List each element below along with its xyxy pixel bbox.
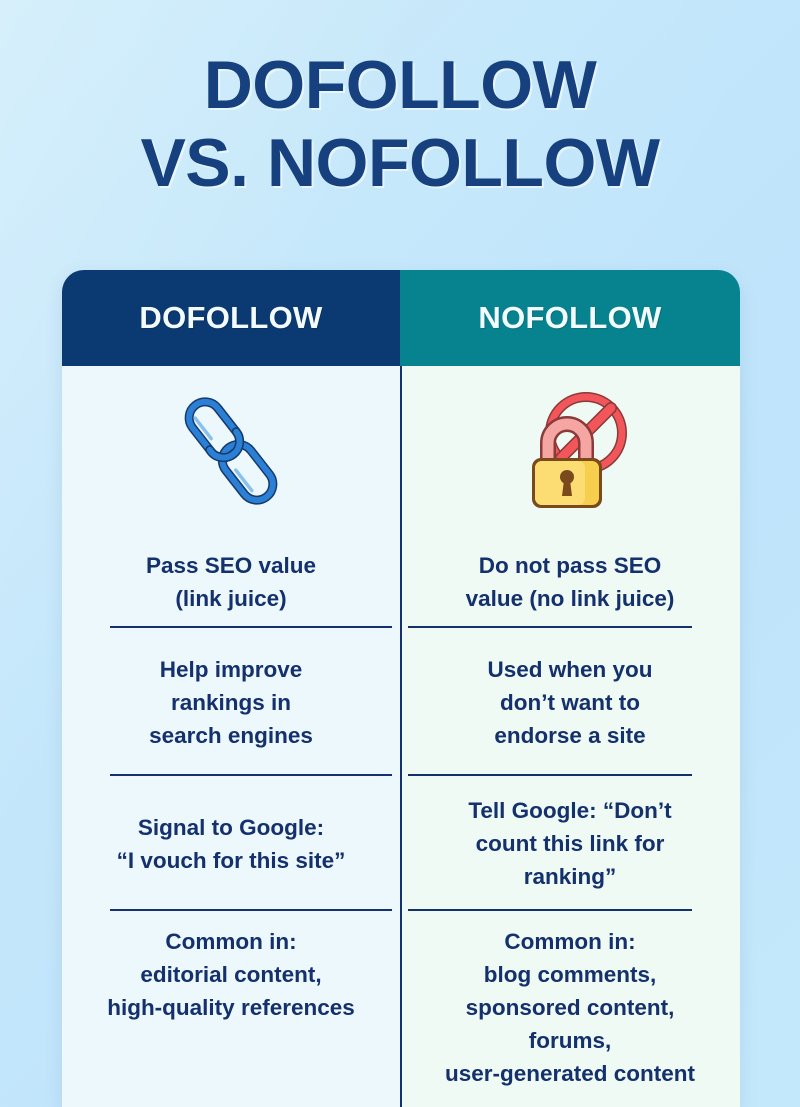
text-line: Common in: [107,925,355,958]
cell-nofollow-common-in: Common in: blog comments, sponsored cont… [400,911,740,1107]
text-line: endorse a site [487,719,652,752]
text-line: search engines [149,719,313,752]
cell-dofollow-rankings: Help improve rankings in search engines [62,628,400,776]
cell-nofollow-icon [400,366,740,536]
column-header-dofollow: DOFOLLOW [62,270,400,366]
text-line: Help improve [149,653,313,686]
text-line: count this link for [468,827,671,860]
cell-nofollow-signal: Tell Google: “Don’t count this link for … [400,776,740,911]
text-line: Pass SEO value [146,549,316,582]
column-nofollow: NOFOLLOW [400,270,740,1107]
cell-dofollow-signal: Signal to Google: “I vouch for this site… [62,776,400,911]
text-line: value (no link juice) [466,582,675,615]
no-entry-padlock-icon [495,376,645,526]
column-dofollow: DOFOLLOW [62,270,400,1107]
column-separator [400,366,402,1107]
cell-nofollow-endorse: Used when you don’t want to endorse a si… [400,628,740,776]
text-line: rankings in [149,686,313,719]
column-header-nofollow: NOFOLLOW [400,270,740,366]
chain-link-icon [156,376,306,526]
cell-nofollow-seo-value: Do not pass SEO value (no link juice) [400,536,740,628]
comparison-table-card: DOFOLLOW [62,270,740,1107]
infographic-poster: DOFOLLOW VS. NOFOLLOW DOFOLLOW [0,0,800,1107]
text-line: Used when you [487,653,652,686]
page-title: DOFOLLOW VS. NOFOLLOW [0,46,800,202]
text-line: (link juice) [146,582,316,615]
page-title-line-2: VS. NOFOLLOW [0,124,800,202]
text-line: blog comments, [445,958,695,991]
text-line: high-quality references [107,991,355,1024]
cell-dofollow-common-in: Common in: editorial content, high-quali… [62,911,400,1107]
text-line: don’t want to [487,686,652,719]
text-line: user-generated content [445,1057,695,1090]
cell-dofollow-seo-value: Pass SEO value (link juice) [62,536,400,628]
page-title-line-1: DOFOLLOW [0,46,800,124]
text-line: Tell Google: “Don’t [468,794,671,827]
text-line: Do not pass SEO [466,549,675,582]
text-line: editorial content, [107,958,355,991]
cell-dofollow-icon [62,366,400,536]
text-line: Common in: [445,925,695,958]
text-line: Signal to Google: [117,811,346,844]
text-line: ranking” [468,860,671,893]
text-line: “I vouch for this site” [117,844,346,877]
text-line: sponsored content, [445,991,695,1024]
text-line: forums, [445,1024,695,1057]
